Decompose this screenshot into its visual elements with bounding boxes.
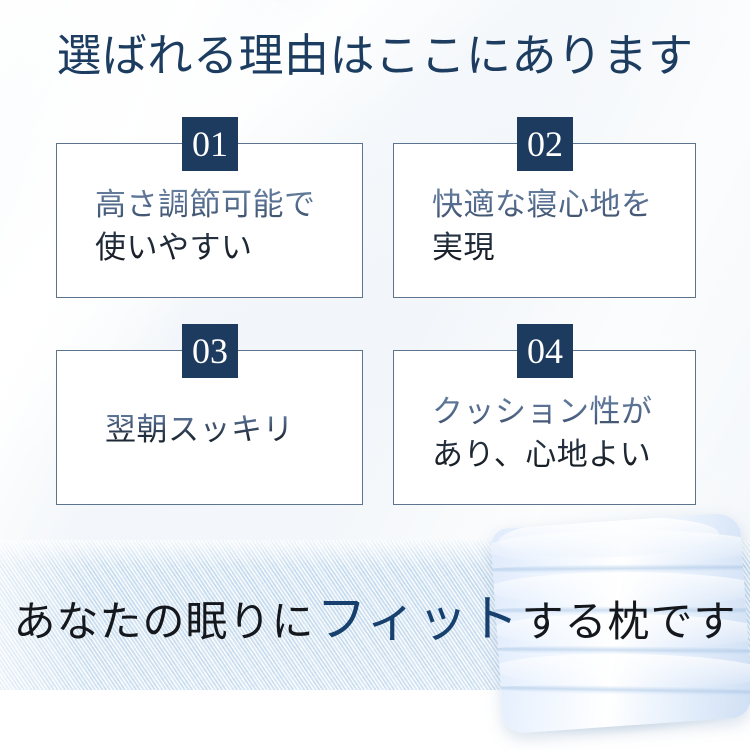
bottom-tagline: あなたの眠りにフィットする枕です [0,594,750,644]
feature-badge-02: 02 [517,117,573,171]
feature-card-04-text: クッション性が あり、心地よい [432,391,681,477]
fabric-top-fade [0,540,750,566]
feature-card-01-line-1: 高さ調節可能で [95,184,348,227]
feature-card-02-line-1: 快適な寝心地を [432,184,681,227]
promo-banner: 選ばれる理由はここにあります 高さ調節可能で 使いやすい 快適な寝心地を 実現 … [0,0,750,750]
tagline-accent: フィット [315,594,522,644]
feature-card-grid: 高さ調節可能で 使いやすい 快適な寝心地を 実現 翌朝スッキリ クッション性が … [56,117,696,507]
feature-card-03-text: 翌朝スッキリ [105,409,348,452]
tagline-before: あなたの眠りに [13,602,314,644]
feature-card-02-text: 快適な寝心地を 実現 [432,184,681,270]
feature-card-04-line-2: あり、心地よい [432,434,681,477]
feature-badge-04: 04 [517,324,573,378]
feature-card-02-line-2: 実現 [432,227,681,270]
feature-badge-01: 01 [182,117,238,171]
feature-card-03-line-1: 翌朝スッキリ [105,409,348,452]
tagline-after: する枕です [522,602,737,644]
feature-badge-03: 03 [182,324,238,378]
feature-card-01-line-2: 使いやすい [95,227,348,270]
feature-card-04-line-1: クッション性が [432,391,681,434]
pillow-drop-shadow [509,696,749,743]
feature-card-01-text: 高さ調節可能で 使いやすい [95,184,348,270]
page-title: 選ばれる理由はここにあります [0,32,750,82]
